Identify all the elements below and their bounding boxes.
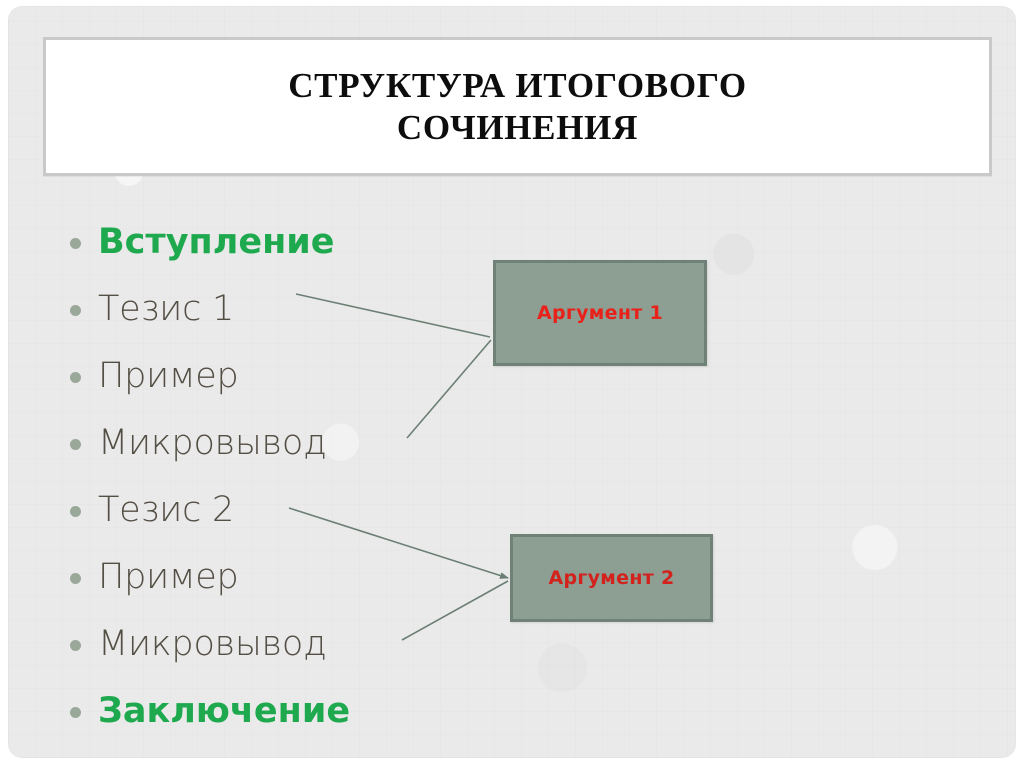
bullet-list: Вступление Тезис 1 Пример Микровывод Тез… — [70, 209, 490, 745]
list-item[interactable]: Пример — [70, 343, 490, 410]
list-item[interactable]: Тезис 2 — [70, 477, 490, 544]
bullet-dot-icon — [70, 506, 81, 517]
page-title: Структура итогового сочинения — [208, 65, 828, 148]
list-item[interactable]: Заключение — [70, 678, 490, 745]
list-item-label: Заключение — [98, 694, 350, 729]
title-box: Структура итогового сочинения — [43, 37, 992, 176]
slide-frame: Структура итогового сочинения Вступление… — [0, 0, 1024, 767]
list-item-label: Тезис 2 — [98, 493, 234, 528]
bullet-dot-icon — [70, 439, 81, 450]
list-item-label: Вступление — [98, 225, 335, 260]
bullet-dot-icon — [70, 573, 81, 584]
bullet-dot-icon — [70, 707, 81, 718]
argument-box-1[interactable]: Аргумент 1 — [493, 260, 707, 366]
bullet-dot-icon — [70, 640, 81, 651]
list-item[interactable]: Микровывод — [70, 611, 490, 678]
argument-box-2[interactable]: Аргумент 2 — [510, 534, 713, 622]
bullet-dot-icon — [70, 372, 81, 383]
list-item-label: Тезис 1 — [98, 292, 234, 327]
slide-body: Структура итогового сочинения Вступление… — [8, 6, 1016, 758]
list-item-label: Пример — [98, 359, 239, 394]
list-item-label: Микровывод — [98, 426, 327, 461]
list-item-label: Микровывод — [98, 627, 327, 662]
list-item[interactable]: Вступление — [70, 209, 490, 276]
list-item[interactable]: Микровывод — [70, 410, 490, 477]
argument-box-2-label: Аргумент 2 — [548, 567, 674, 589]
argument-box-1-label: Аргумент 1 — [537, 302, 663, 324]
list-item-label: Пример — [98, 560, 239, 595]
bullet-dot-icon — [70, 305, 81, 316]
bullet-dot-icon — [70, 238, 81, 249]
list-item[interactable]: Пример — [70, 544, 490, 611]
list-item[interactable]: Тезис 1 — [70, 276, 490, 343]
